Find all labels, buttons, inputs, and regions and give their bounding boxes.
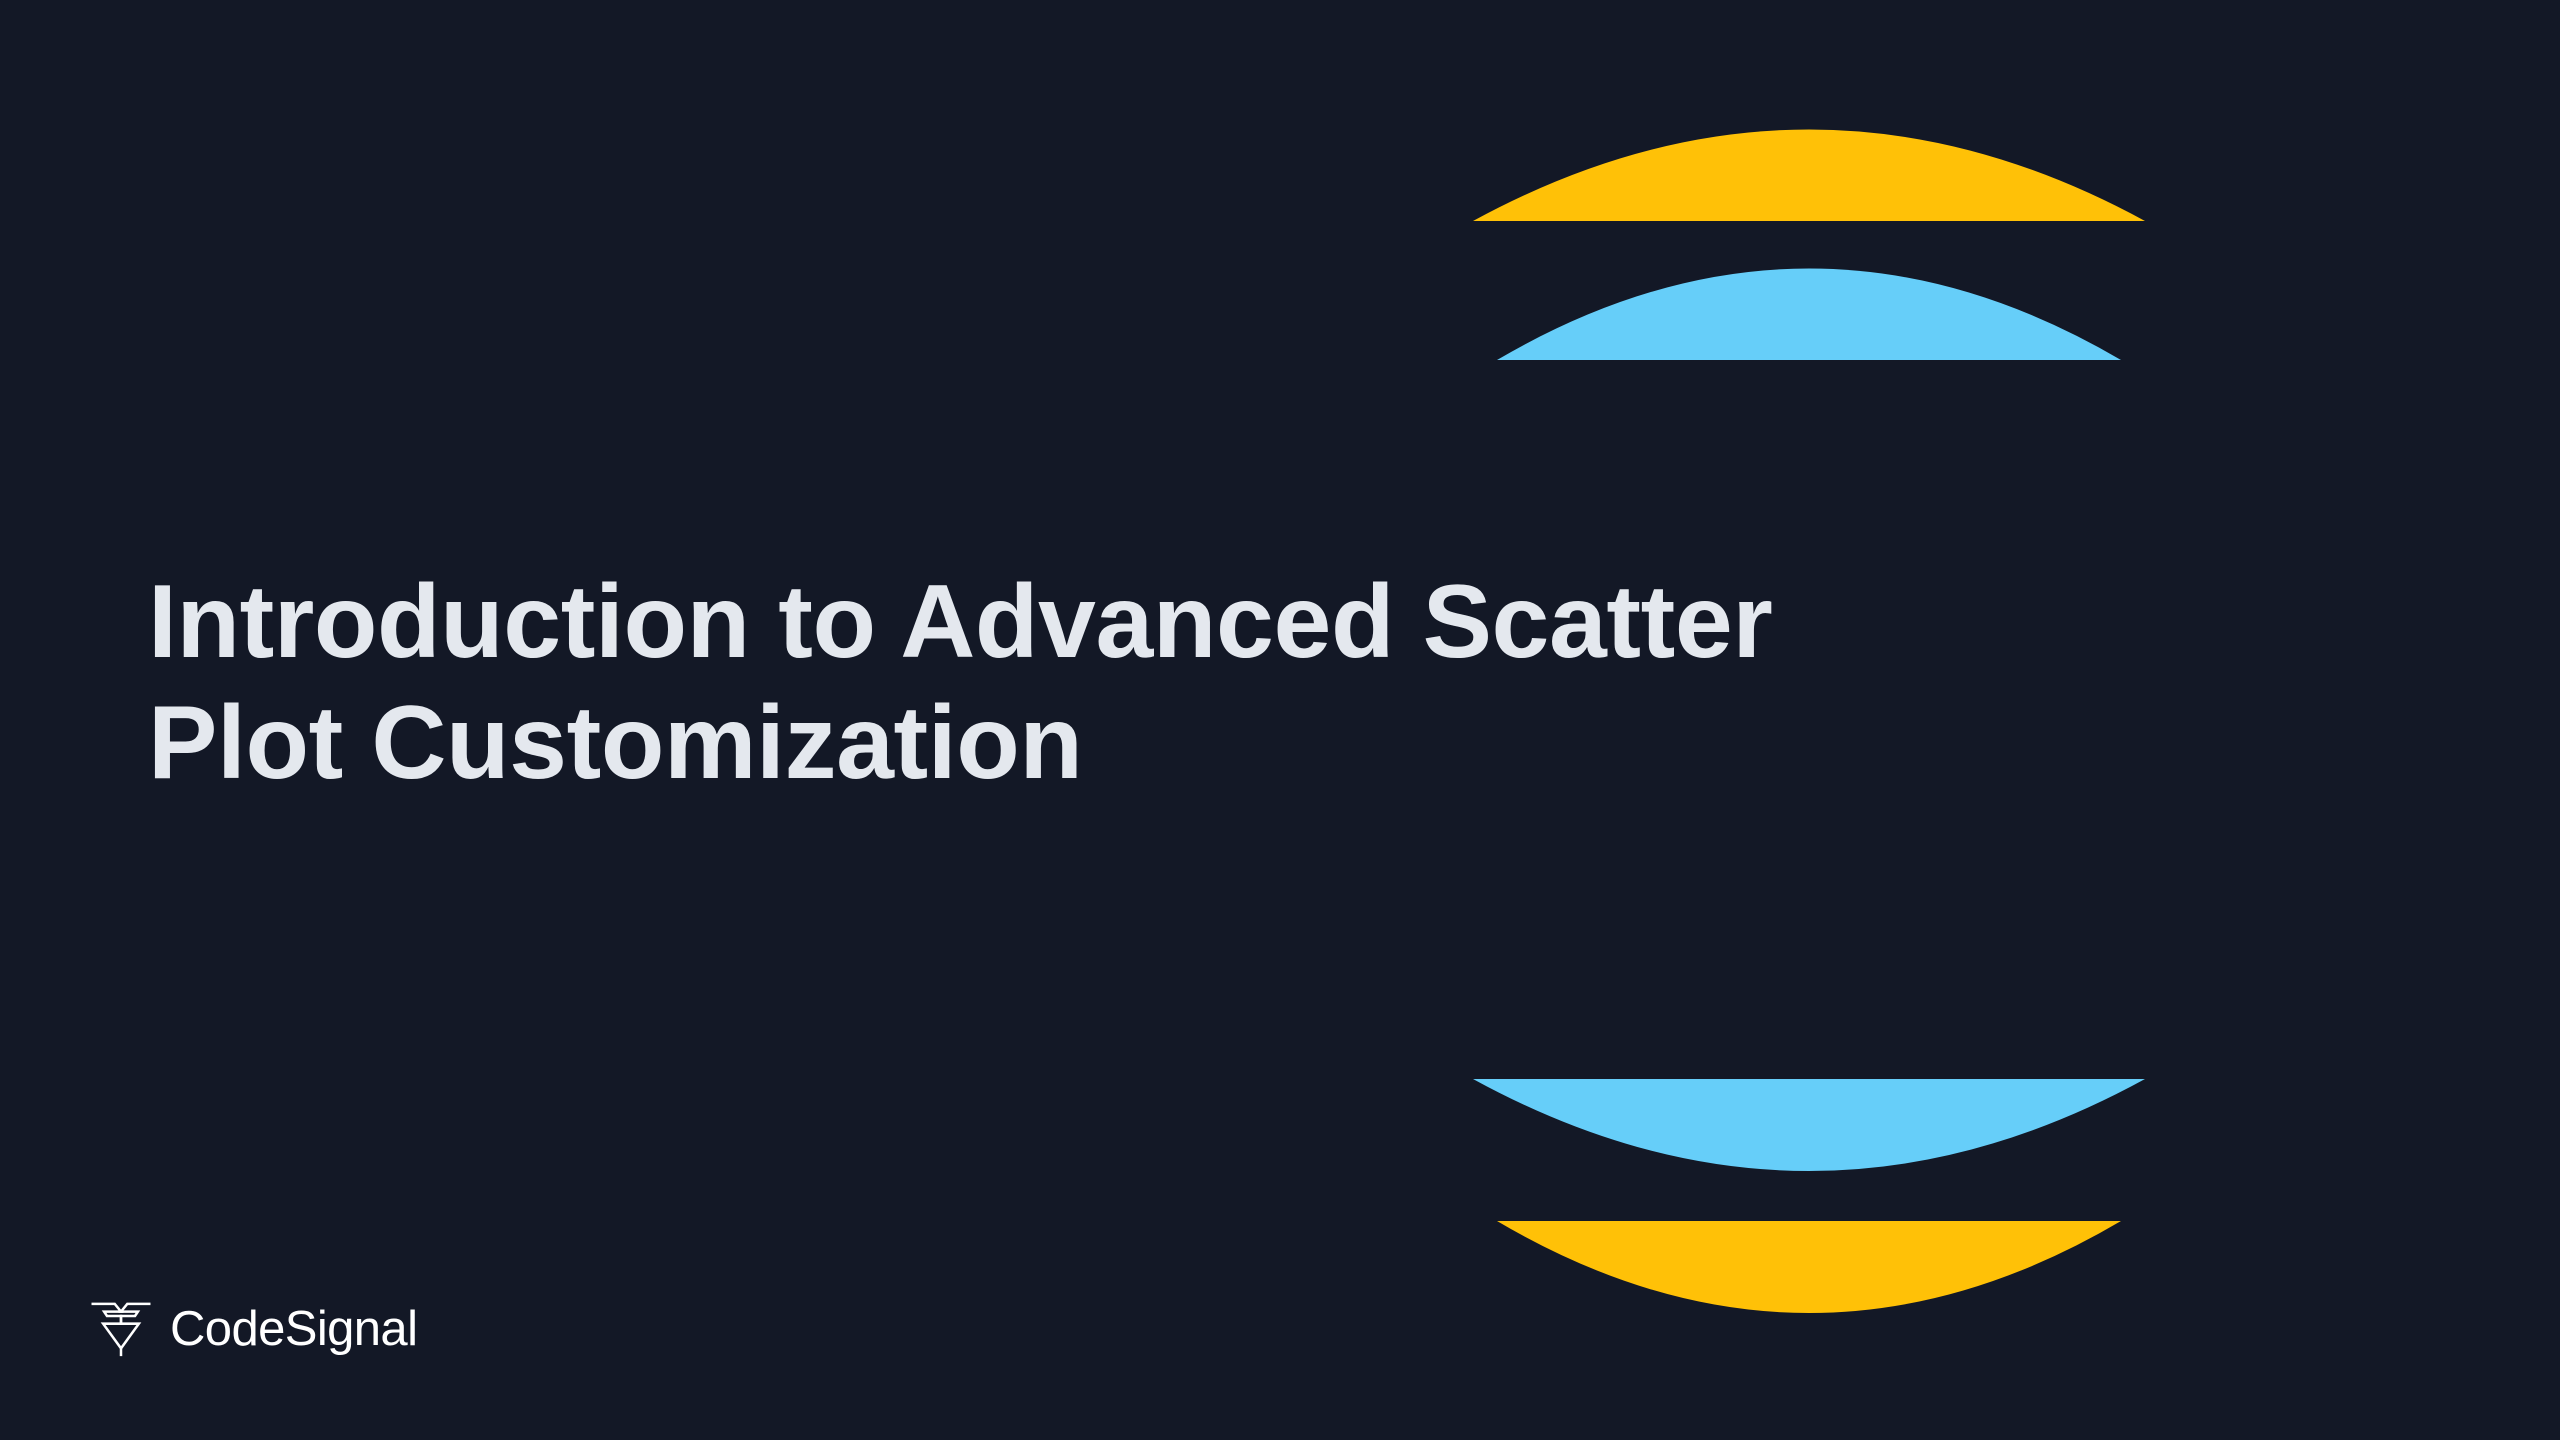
codesignal-wing-logo-icon <box>90 1300 152 1358</box>
brand-logo-lockup: CodeSignal <box>90 1300 417 1358</box>
page-title-line-1: Introduction to Advanced Scatter <box>148 562 2268 683</box>
page-title: Introduction to Advanced Scatter Plot Cu… <box>148 562 2268 803</box>
page-title-line-2: Plot Customization <box>148 683 2268 804</box>
title-slide: Introduction to Advanced Scatter Plot Cu… <box>0 0 2560 1440</box>
brand-wordmark: CodeSignal <box>170 1305 417 1354</box>
